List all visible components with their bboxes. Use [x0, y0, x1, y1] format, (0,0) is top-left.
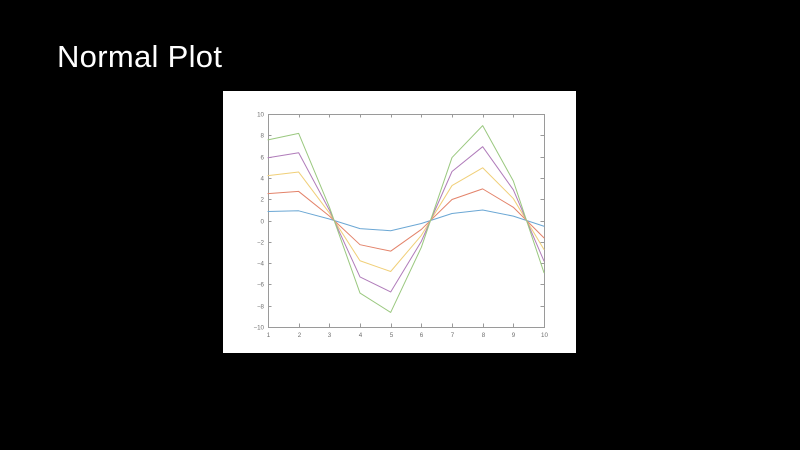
plot-axes [269, 115, 545, 328]
plot-svg[interactable]: −10−8−6−4−2024681012345678910 [223, 91, 576, 353]
plot-tick-labels: −10−8−6−4−2024681012345678910 [254, 112, 549, 339]
plot-figure[interactable]: −10−8−6−4−2024681012345678910 [223, 91, 576, 353]
series-line-5*sin(x) [268, 168, 544, 272]
x-tick-label: 5 [390, 332, 394, 339]
series-line-3*sin(x) [268, 189, 544, 251]
page-title: Normal Plot [57, 38, 222, 76]
x-tick-label: 2 [298, 332, 302, 339]
series-line-9*sin(x) [268, 126, 544, 313]
plot-ticks [268, 114, 545, 328]
series-line-1*sin(x) [268, 210, 544, 231]
y-tick-label: 0 [261, 219, 265, 226]
x-tick-label: 10 [541, 332, 548, 339]
series-line-7*sin(x) [268, 147, 544, 292]
y-tick-label: 8 [261, 133, 265, 140]
plot-series [268, 126, 544, 313]
x-tick-label: 3 [328, 332, 332, 339]
x-tick-label: 1 [267, 332, 271, 339]
x-tick-label: 8 [482, 332, 486, 339]
y-tick-label: 6 [261, 155, 265, 162]
x-tick-label: 6 [420, 332, 424, 339]
y-tick-label: 4 [261, 176, 265, 183]
y-tick-label: −4 [257, 261, 265, 268]
y-tick-label: 2 [261, 197, 265, 204]
y-tick-label: −6 [257, 282, 265, 289]
x-tick-label: 9 [512, 332, 516, 339]
x-tick-label: 7 [451, 332, 455, 339]
y-tick-label: −8 [257, 304, 265, 311]
y-tick-label: 10 [257, 112, 264, 119]
plot-box [269, 115, 545, 328]
x-tick-label: 4 [359, 332, 363, 339]
y-tick-label: −10 [254, 325, 265, 332]
slide-canvas: Normal Plot −10−8−6−4−202468101234567891… [0, 0, 800, 450]
y-tick-label: −2 [257, 240, 265, 247]
